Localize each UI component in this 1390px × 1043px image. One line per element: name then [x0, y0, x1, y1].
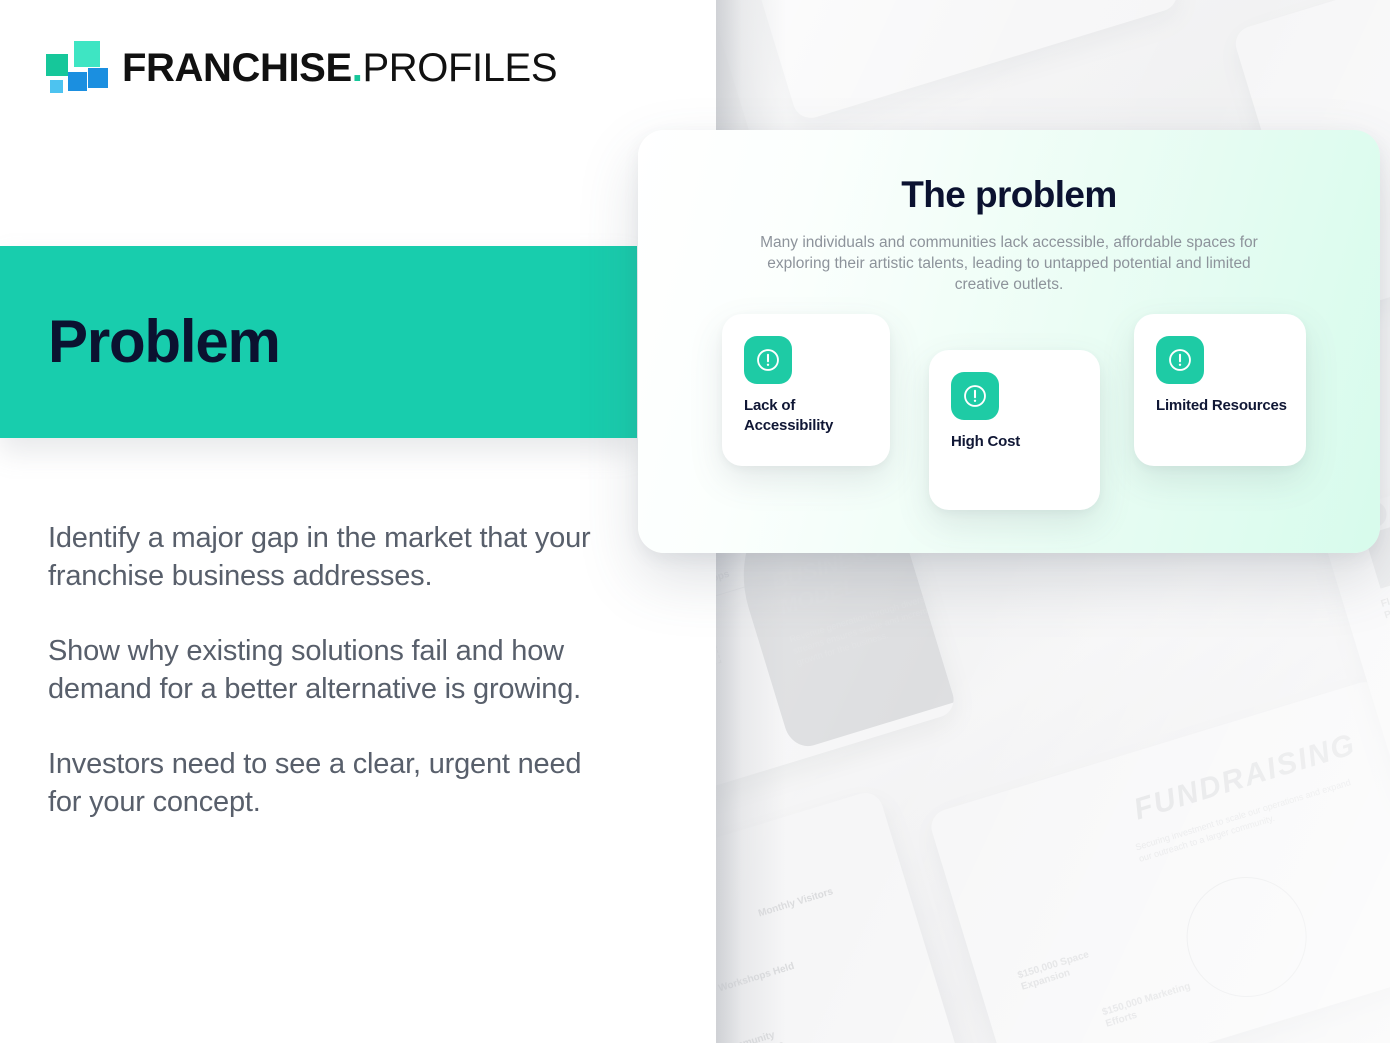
alert-circle-icon — [744, 336, 792, 384]
body-paragraph-3: Investors need to see a clear, urgent ne… — [48, 745, 620, 821]
body-paragraph-2: Show why existing solutions fail and how… — [48, 632, 620, 708]
feature-card-label: High Cost — [951, 432, 1088, 452]
feature-card[interactable]: Limited Resources — [1134, 314, 1306, 466]
preview-description: Many individuals and communities lack ac… — [749, 232, 1269, 295]
bg-slide-fundraising: FUNDRAISING Securing investment to scale… — [927, 678, 1390, 1043]
feature-card-label: Lack of Accessibility — [744, 396, 878, 436]
feature-card[interactable]: Lack of Accessibility — [722, 314, 890, 466]
body-paragraph-1: Identify a major gap in the market that … — [48, 519, 620, 595]
slide-preview-panel[interactable]: The problem Many individuals and communi… — [638, 130, 1380, 553]
feature-card[interactable]: High Cost — [929, 350, 1100, 510]
brand-wordmark: FRANCHISE.PROFILES — [122, 48, 557, 88]
section-banner: Problem — [0, 246, 637, 438]
brand-logo[interactable]: FRANCHISE.PROFILES — [44, 40, 557, 96]
feature-card-label: Limited Resources — [1156, 396, 1294, 416]
slide-canvas: Drop-In Fees Session Workshops Commissio… — [0, 0, 1390, 1043]
brand-name-light: PROFILES — [362, 46, 557, 90]
bg-slide-traction: TRACTION Growing community 1,000 Monthly… — [716, 789, 965, 1043]
body-copy: Identify a major gap in the market that … — [48, 519, 620, 821]
page-title: Problem — [48, 312, 280, 372]
bg-slide-problem: THE PROBLEM Lack of accessible spaces fo… — [720, 0, 1181, 122]
brand-name-bold: FRANCHISE — [122, 46, 352, 90]
brand-dot: . — [352, 46, 363, 90]
alert-circle-icon — [1156, 336, 1204, 384]
squares-logo-icon — [44, 40, 104, 96]
preview-title: The problem — [638, 174, 1380, 216]
alert-circle-icon — [951, 372, 999, 420]
